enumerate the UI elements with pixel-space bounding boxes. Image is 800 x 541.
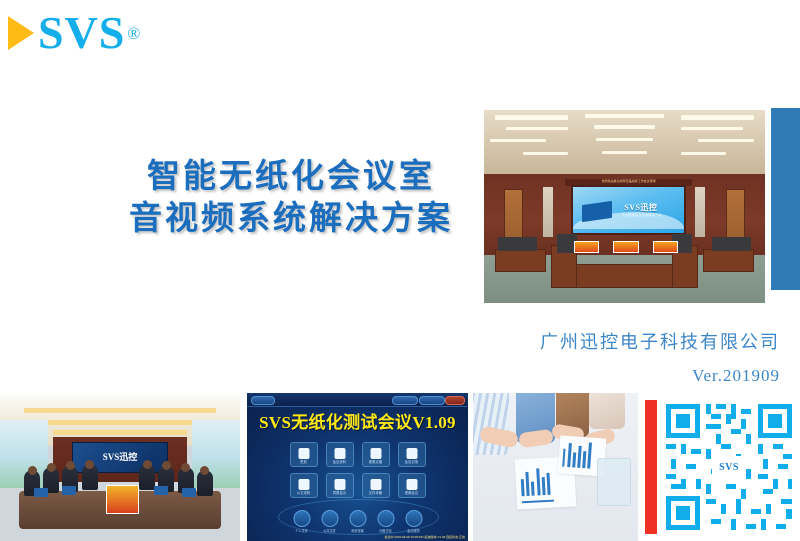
desk-unit-3: [653, 241, 678, 253]
sync-icon: [334, 479, 345, 490]
tile-filetransfer[interactable]: 文件传输: [362, 473, 390, 498]
chair-row-far-left: [498, 237, 537, 251]
table-far-left: [495, 249, 546, 272]
tile-video[interactable]: 视频点播: [362, 442, 390, 467]
tile-label: 文件传输: [363, 490, 389, 495]
person-4-shirt: [589, 393, 625, 429]
ceiling: [484, 110, 765, 174]
tile-label: 视频点播: [363, 459, 389, 464]
wall-column-right: [695, 187, 705, 237]
display-unit: [106, 485, 140, 515]
logo-wordmark: SVS: [38, 10, 125, 56]
dock-breakout[interactable]: 分组讨论: [377, 510, 394, 527]
tile-screenshare[interactable]: 同屏显示: [326, 473, 354, 498]
registered-trademark-icon: ®: [127, 25, 140, 42]
tile-videoconf[interactable]: 视频会议: [398, 473, 426, 498]
bottom-image-strip: SVS迅控: [0, 393, 800, 541]
qr-code[interactable]: SVS: [662, 400, 796, 534]
water-glass: [597, 458, 631, 506]
tile-label: 会议记录: [399, 459, 425, 464]
wall-column-left: [543, 187, 553, 237]
briefcase-icon: [406, 479, 417, 490]
topbar-pause-button[interactable]: [392, 396, 418, 405]
screen-brand: SVS迅控: [624, 202, 657, 213]
title-line-1: 智能无纸化会议室: [96, 155, 486, 197]
ui-status-bar: 会议中 2019-09-08 10:28:46\n系统版本 V1.09 连接状态…: [384, 535, 465, 540]
dock-label: 系统设置: [344, 528, 371, 533]
ui-tile-grid: 签到 会议资料 视频点播 会议记录 公文流转: [290, 442, 426, 498]
svs-logo: SVS ®: [8, 10, 140, 56]
strip-cell-team-discussion: [473, 393, 638, 541]
led-display: SVS迅控 专业视频会议系统解决方案: [571, 185, 686, 235]
dock-public-files[interactable]: 公共文件: [321, 510, 338, 527]
right-accent-bar: [771, 108, 800, 290]
qr-center-label: SVS: [719, 462, 739, 473]
notes-icon: [406, 448, 417, 459]
page-title: 智能无纸化会议室 音视频系统解决方案: [96, 155, 486, 239]
topbar-agenda-button[interactable]: [251, 396, 275, 405]
dock-service[interactable]: 会议服务: [405, 510, 422, 527]
chair-row-far-right: [712, 237, 751, 251]
hero-conference-room-image: 热烈欢迎各位领导莅临指导工作会议现场 SVS迅控 专业视频会议系统解决方案: [484, 110, 765, 303]
version-label: Ver.201909: [430, 362, 780, 390]
document-icon: [334, 448, 345, 459]
dock-label: 分组讨论: [372, 528, 399, 533]
topbar-end-button[interactable]: [419, 396, 445, 405]
strip-cell-paperless-ui: SVS无纸化测试会议V1.09 签到 会议资料 视频点播 会议记录: [247, 393, 468, 541]
dock-label: 公共文件: [316, 528, 343, 533]
screen-subtitle: 专业视频会议系统解决方案: [622, 213, 662, 217]
title-line-2: 音视频系统解决方案: [96, 197, 486, 239]
dock-settings[interactable]: 系统设置: [349, 510, 366, 527]
folder-icon: [298, 479, 309, 490]
dock-personal-files[interactable]: 个人文件: [293, 510, 310, 527]
qr-center-logo: SVS: [712, 456, 746, 478]
tile-label: 签到: [291, 459, 317, 464]
dock-label: 会议服务: [400, 528, 427, 533]
tile-label: 会议资料: [327, 459, 353, 464]
table-far-right: [703, 249, 754, 272]
tile-label: 视频会议: [399, 490, 425, 495]
slide-canvas: SVS ® 智能无纸化会议室 音视频系统解决方案 广州迅控电子科技有限公司 Ve…: [0, 0, 800, 541]
tile-label: 同屏显示: [327, 490, 353, 495]
tile-signin[interactable]: 签到: [290, 442, 318, 467]
company-name: 广州迅控电子科技有限公司: [430, 330, 780, 356]
tile-materials[interactable]: 会议资料: [326, 442, 354, 467]
desk-unit-2: [613, 241, 638, 253]
tile-minutes[interactable]: 会议记录: [398, 442, 426, 467]
topbar-exit-button[interactable]: [445, 396, 465, 405]
tile-docflow[interactable]: 公文流转: [290, 473, 318, 498]
desk-unit-1: [574, 241, 599, 253]
ui-dock: 个人文件 公共文件 系统设置 分组讨论 会议服务: [293, 510, 422, 527]
dock-label: 个人文件: [288, 528, 315, 533]
tile-label: 公文流转: [291, 490, 317, 495]
video-icon: [370, 448, 381, 459]
ui-topbar: [247, 393, 468, 407]
red-accent-bar: [645, 400, 657, 534]
company-block: 广州迅控电子科技有限公司 Ver.201909: [430, 330, 780, 390]
ui-title: SVS无纸化测试会议V1.09: [247, 408, 468, 433]
strip-cell-meeting-room: SVS迅控: [0, 393, 240, 541]
table-front: [565, 264, 683, 287]
clipboard-icon: [298, 448, 309, 459]
play-triangle-icon: [8, 16, 34, 50]
camera-icon: [370, 479, 381, 490]
